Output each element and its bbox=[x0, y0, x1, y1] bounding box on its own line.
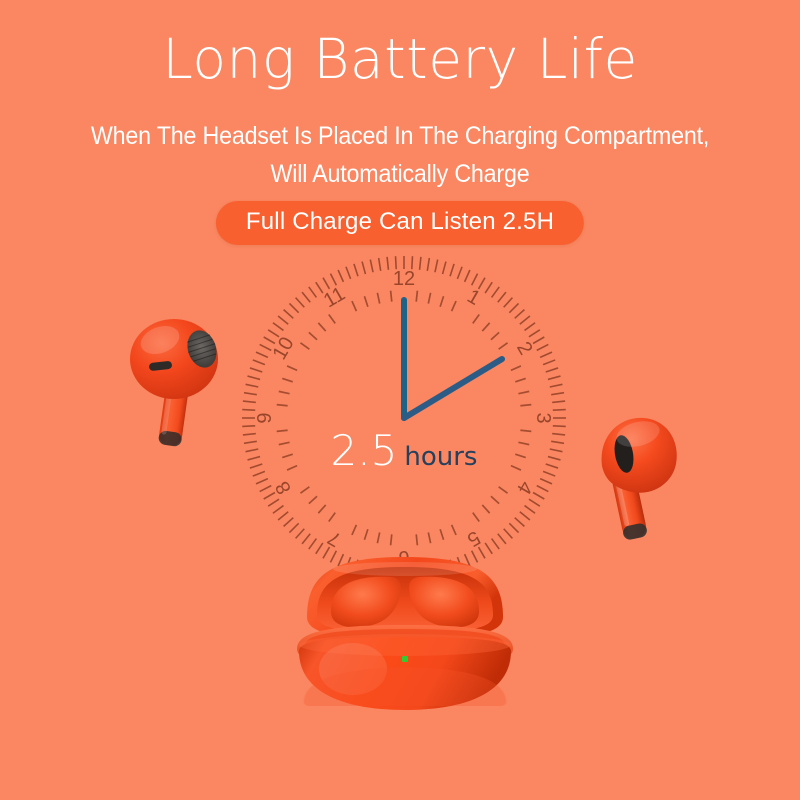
earbud-right bbox=[572, 408, 692, 548]
clock-numeral: 2 bbox=[512, 338, 537, 359]
clock-center-readout: 2.5 hours bbox=[331, 430, 478, 472]
clock-value: 2.5 bbox=[331, 430, 398, 472]
clock-numeral: 10 bbox=[269, 333, 299, 363]
clock-numeral: 8 bbox=[271, 477, 296, 498]
clock-numeral: 3 bbox=[532, 412, 554, 423]
case-body bbox=[299, 634, 511, 710]
clock-numeral: 4 bbox=[512, 477, 537, 498]
clock-numeral: 11 bbox=[320, 283, 349, 312]
charging-case bbox=[283, 545, 528, 710]
product-poster: Long Battery Life When The Headset Is Pl… bbox=[0, 0, 800, 800]
charging-led bbox=[402, 656, 408, 662]
minute-hand bbox=[404, 359, 502, 418]
clock-unit: hours bbox=[404, 442, 477, 472]
clock-numeral: 1 bbox=[463, 285, 484, 310]
earbud-left bbox=[118, 312, 238, 452]
clock-numeral: 12 bbox=[393, 268, 415, 290]
clock-numeral: 9 bbox=[254, 412, 276, 423]
